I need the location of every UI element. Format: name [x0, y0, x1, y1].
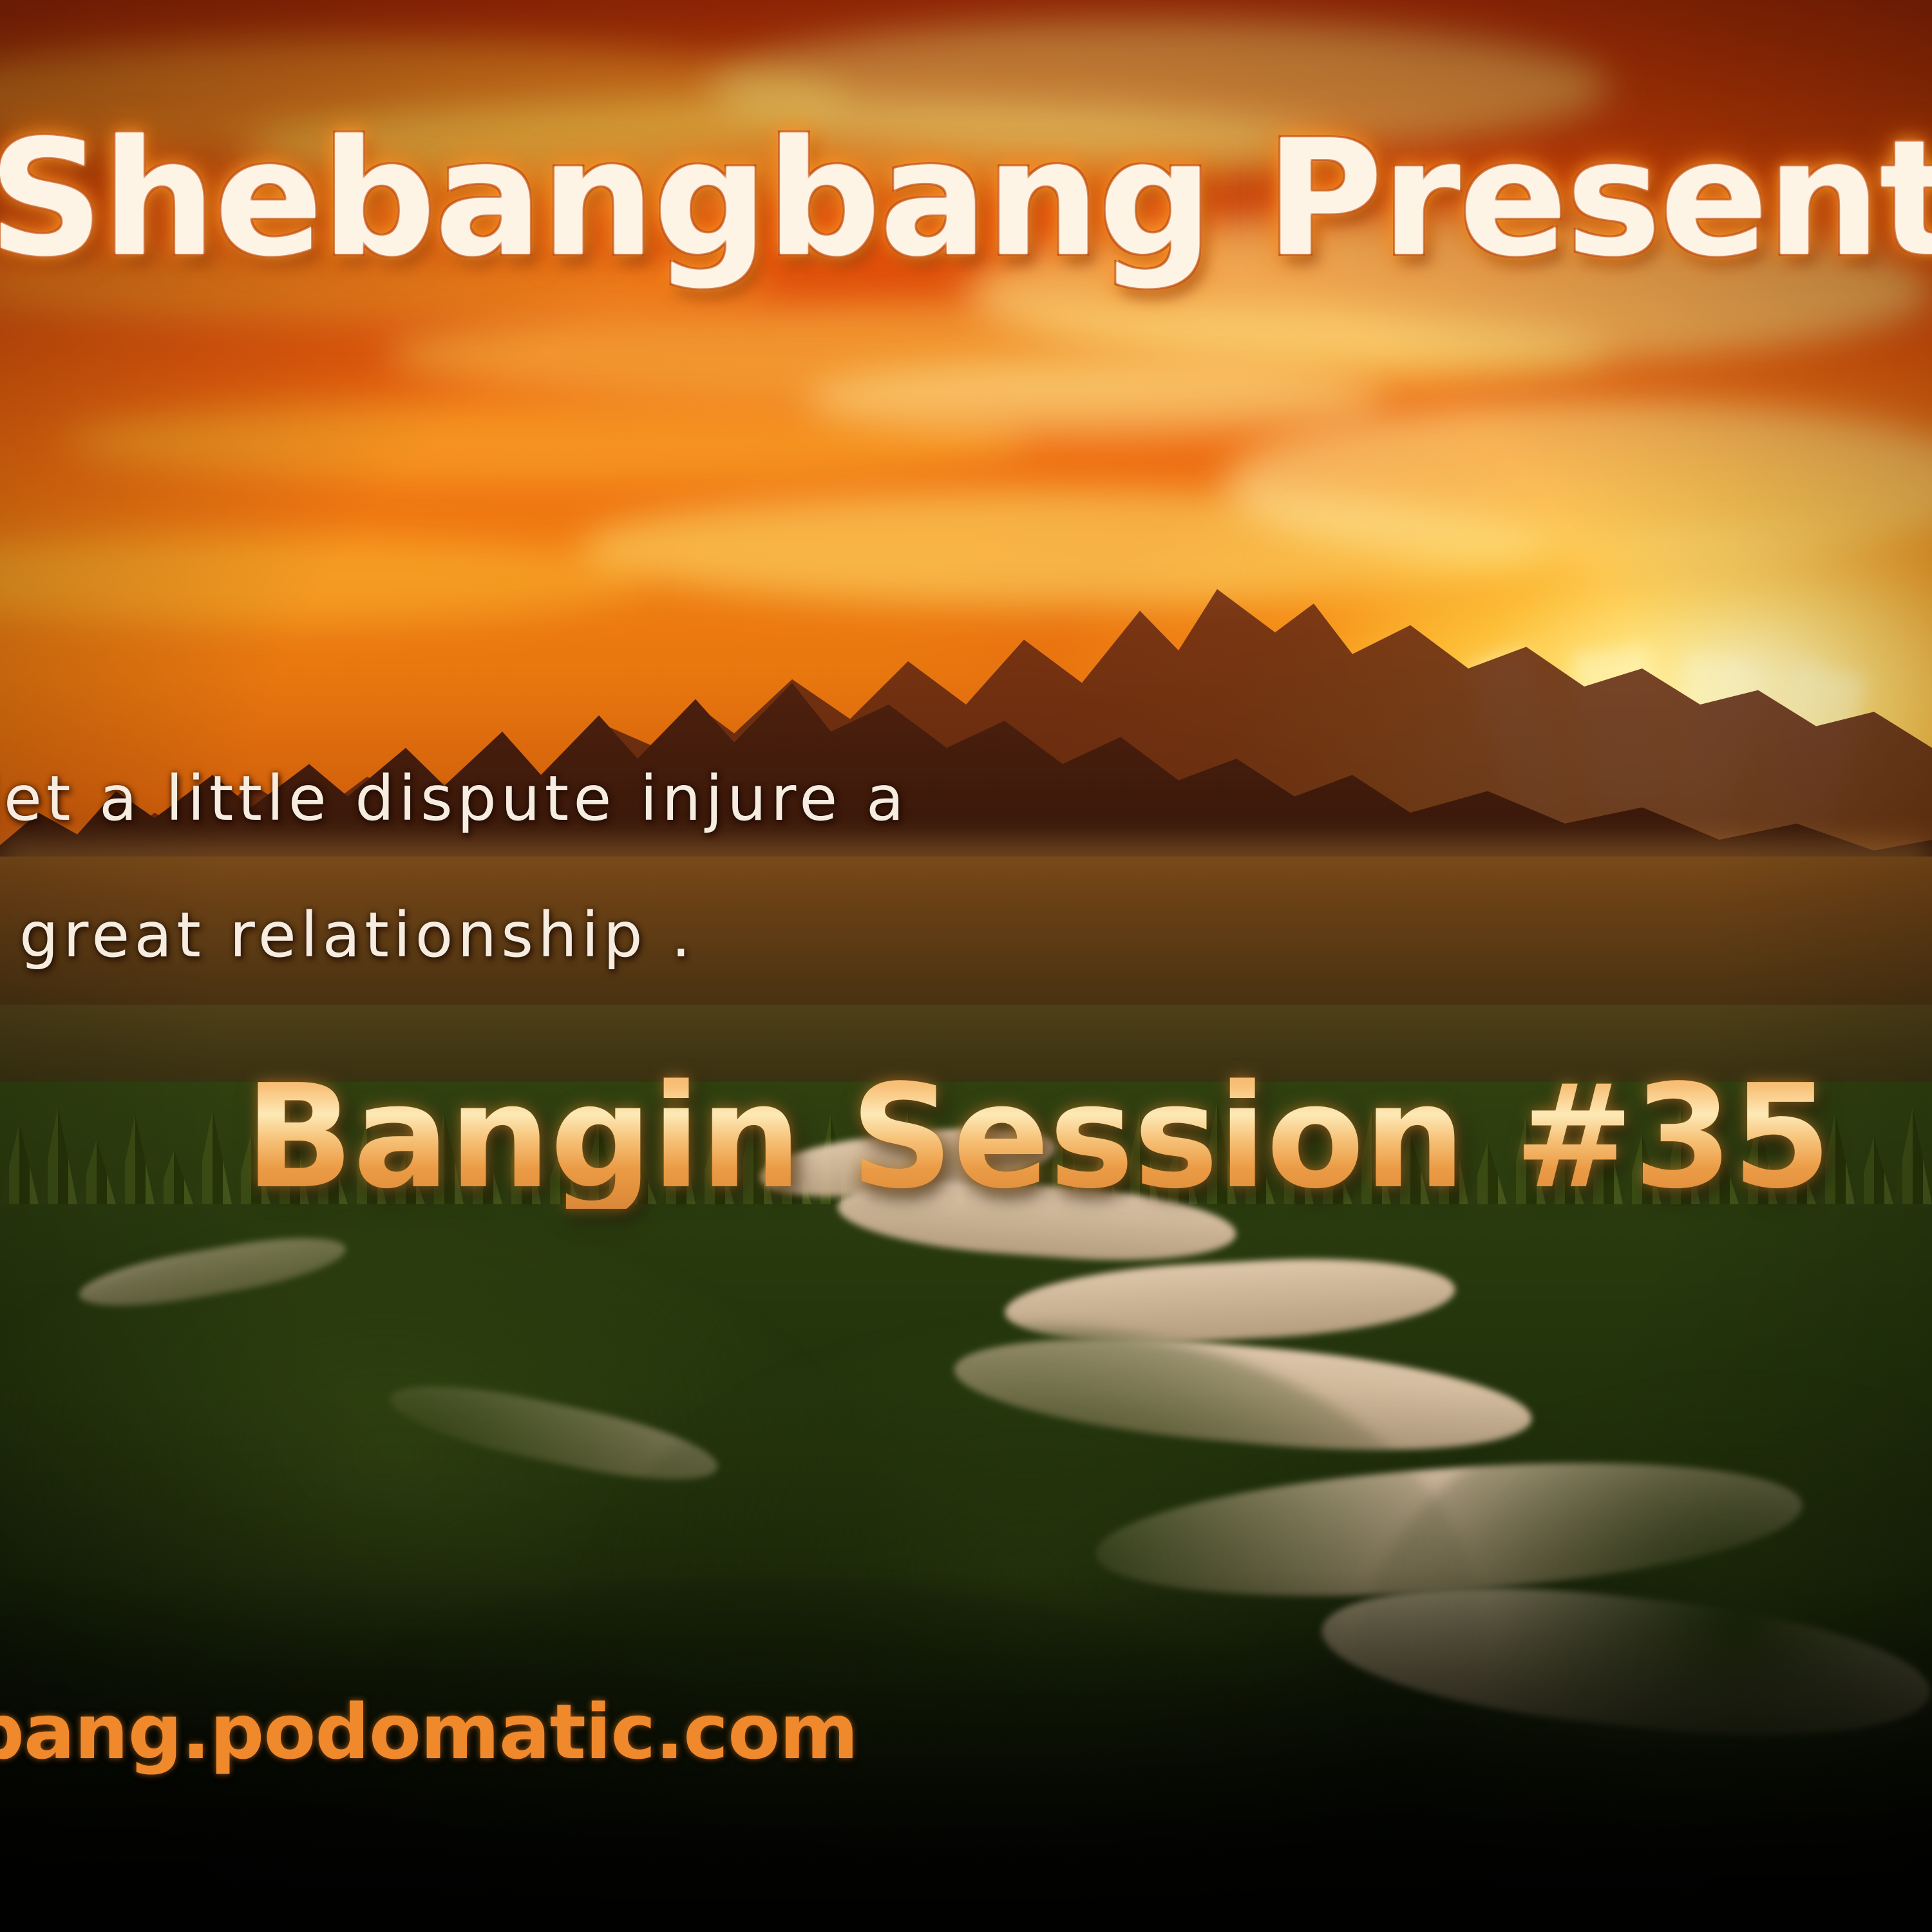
cover-art-canvas: Shebangbang Presents... t let a little d… [0, 0, 1932, 1932]
quote-line-1: t let a little dispute injure a [0, 762, 909, 835]
page-title: Shebangbang Presents... [0, 119, 1932, 279]
podcast-url: gbang.podomatic.com [0, 1687, 858, 1776]
quote-line-2: great relationship . [19, 899, 696, 971]
episode-title: Bangin Session #35 [245, 1066, 1919, 1209]
